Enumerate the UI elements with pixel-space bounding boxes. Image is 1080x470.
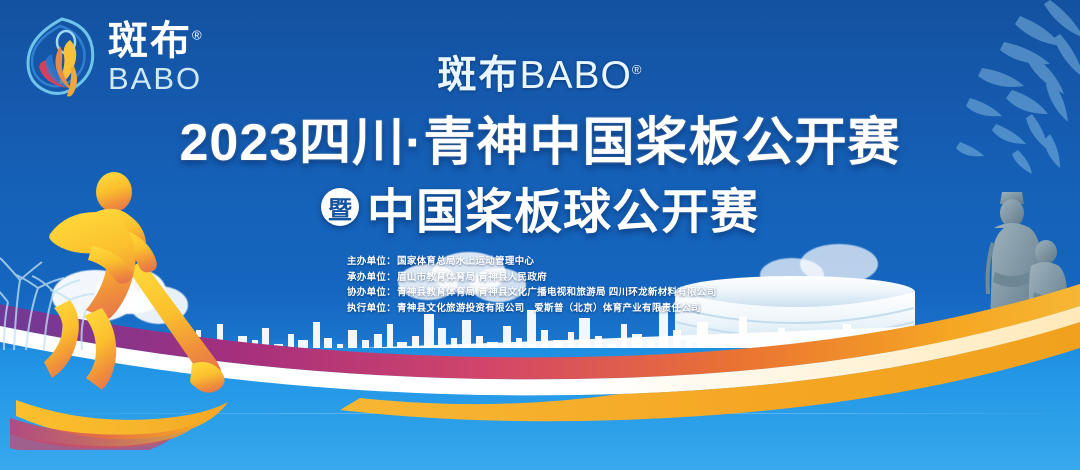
credit-row-organizer: 承办单位：眉山市教育体育局 青神县人民政府	[347, 270, 717, 286]
center-registered-mark: ®	[632, 62, 643, 77]
center-brand: 斑布BABO®	[0, 44, 1080, 100]
credit-label: 执行单位：	[347, 303, 396, 314]
credit-value: 青神县教育体育局 青神县文化广播电视和旅游局 四川环龙新材料有限公司	[397, 287, 716, 298]
page-subtitle: 中国桨板球公开赛	[367, 172, 759, 242]
credit-value: 青神县文化旅游投资有限公司 爱斯普（北京）体育产业有限责任公司	[397, 303, 701, 314]
ji-badge: 暨	[321, 188, 359, 226]
registered-mark: ®	[192, 27, 204, 42]
subtitle-row: 暨 中国桨板球公开赛	[0, 172, 1080, 242]
page-title: 2023四川·青神中国桨板公开赛	[0, 100, 1080, 175]
credit-label: 承办单位：	[347, 272, 396, 283]
credit-value: 眉山市教育体育局 青神县人民政府	[397, 272, 547, 283]
credit-label: 主办单位：	[347, 256, 396, 267]
credit-label: 协办单位：	[347, 287, 396, 298]
event-poster: 斑布® BABO 斑布BABO® 2023四川·青神中国桨板公开赛 暨 中国桨板…	[0, 0, 1080, 470]
credit-value: 国家体育总局水上运动管理中心	[397, 256, 534, 267]
credit-row-executor: 执行单位：青神县文化旅游投资有限公司 爱斯普（北京）体育产业有限责任公司	[347, 301, 717, 317]
organizer-credits: 主办单位：国家体育总局水上运动管理中心 承办单位：眉山市教育体育局 青神县人民政…	[347, 254, 717, 316]
center-brand-en: BABO	[520, 54, 632, 97]
credit-row-host: 主办单位：国家体育总局水上运动管理中心	[347, 254, 717, 270]
center-brand-cn: 斑布	[438, 54, 520, 97]
credit-row-co-organizer: 协办单位：青神县教育体育局 青神县文化广播电视和旅游局 四川环龙新材料有限公司	[347, 285, 717, 301]
